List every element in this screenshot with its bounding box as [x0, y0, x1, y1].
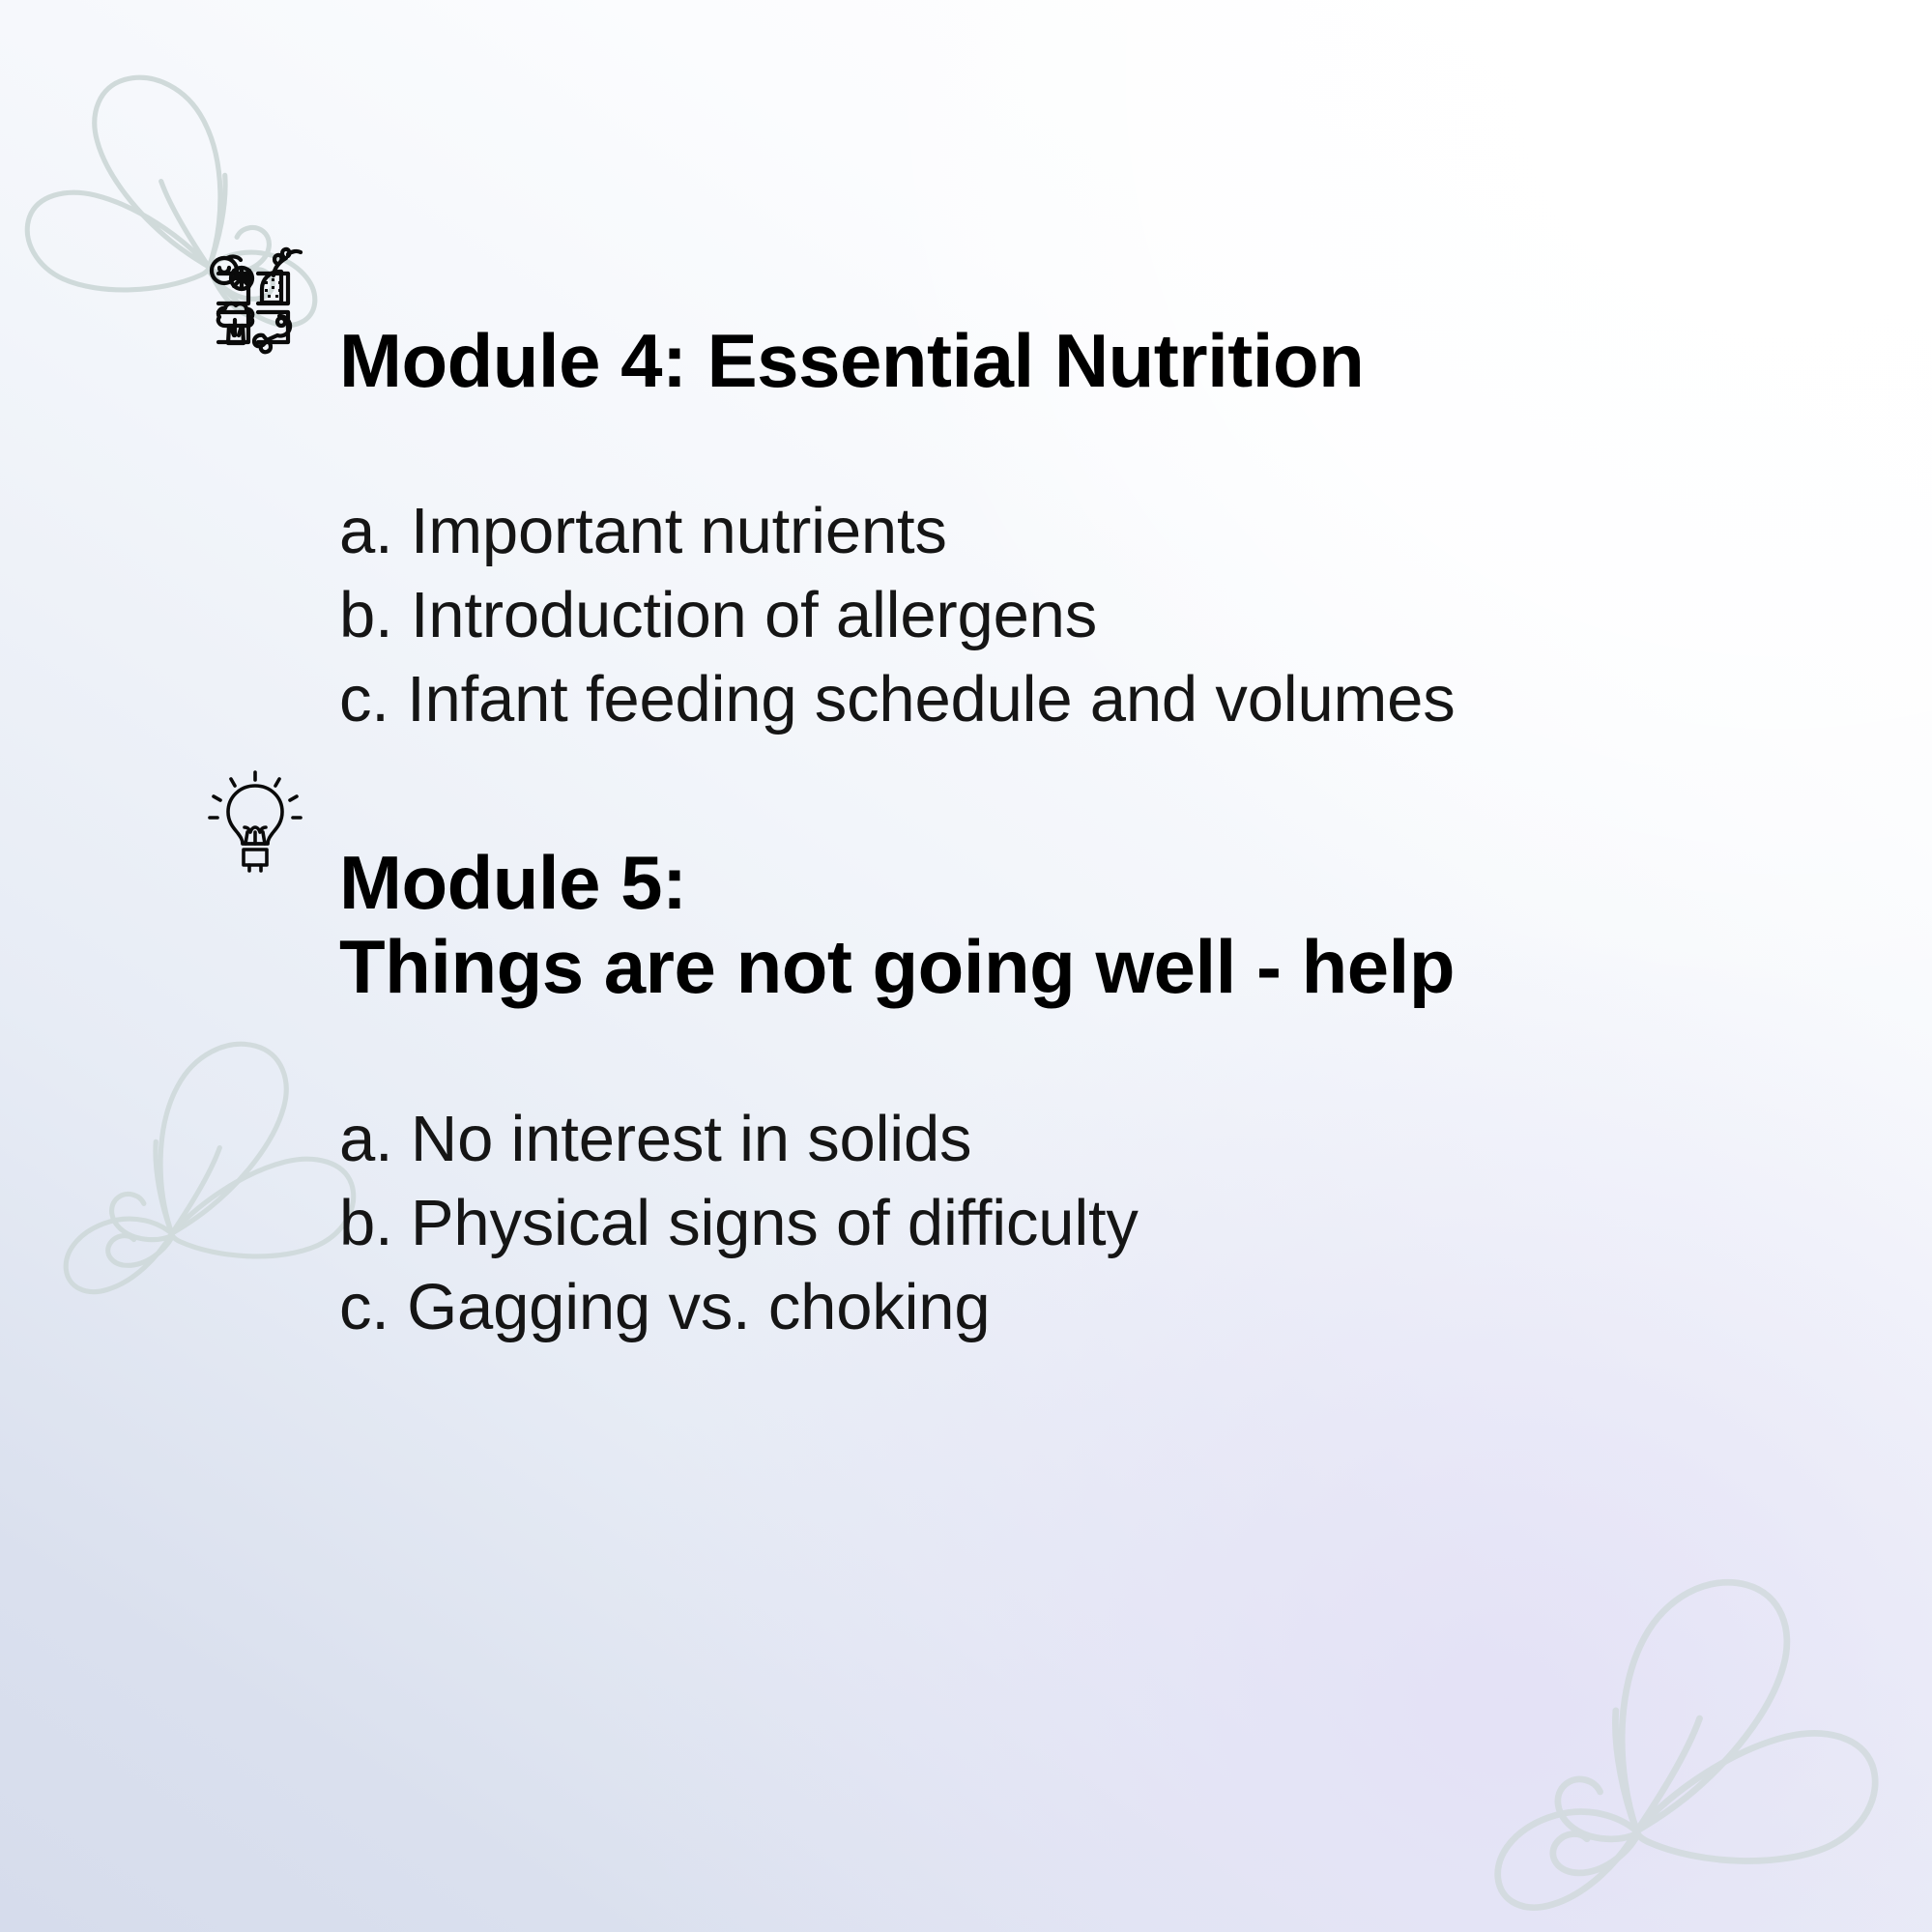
module-4-section: Module 4: Essential Nutrition a. Importa…	[198, 246, 1456, 741]
module-5-section: Module 5: Things are not going well - he…	[198, 768, 1455, 1349]
list-item: b. Introduction of allergens	[339, 573, 1456, 657]
list-item: a. No interest in solids	[339, 1097, 1455, 1181]
module-4-title: Module 4: Essential Nutrition	[339, 309, 1364, 403]
module-5-title: Module 5: Things are not going well - he…	[339, 831, 1455, 1010]
list-item: b. Physical signs of difficulty	[339, 1181, 1455, 1265]
slide-canvas: Module 4: Essential Nutrition a. Importa…	[0, 0, 1932, 1932]
module-5-item-list: a. No interest in solids b. Physical sig…	[339, 1097, 1455, 1349]
list-item: c. Gagging vs. choking	[339, 1265, 1455, 1349]
nutrition-plate-icon	[198, 246, 312, 362]
module-4-item-list: a. Important nutrients b. Introduction o…	[339, 489, 1456, 741]
lightbulb-icon	[198, 766, 312, 882]
slide-content: Module 4: Essential Nutrition a. Importa…	[0, 0, 1932, 1932]
module-4-header: Module 4: Essential Nutrition	[198, 246, 1456, 466]
list-item: c. Infant feeding schedule and volumes	[339, 657, 1456, 741]
module-5-header: Module 5: Things are not going well - he…	[198, 768, 1455, 1072]
list-item: a. Important nutrients	[339, 489, 1456, 573]
